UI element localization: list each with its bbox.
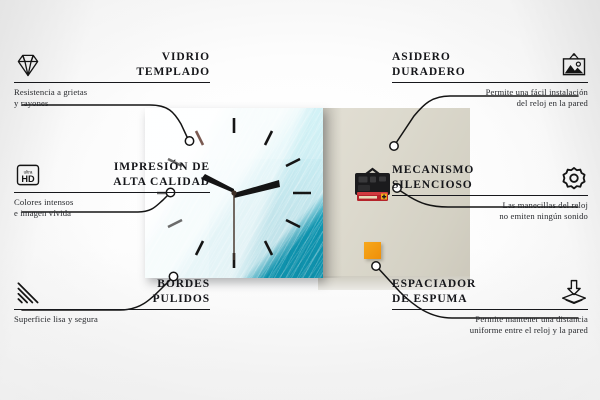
feature-title-line2: DE ESPUMA: [392, 292, 553, 307]
feature-title-line2: SILENCIOSO: [392, 178, 553, 193]
feature-title-line2: PULIDOS: [49, 292, 210, 307]
feature-subtitle-line1: Colores intensos: [14, 197, 210, 208]
feature-title-line2: DURADERO: [392, 65, 553, 80]
polished-edges-icon: [14, 278, 42, 306]
feature-bordes-pulidos[interactable]: BORDES PULIDOS Superficie lisa y segura: [14, 277, 210, 325]
feature-divider: [14, 309, 210, 310]
feature-vidrio-templado[interactable]: VIDRIO TEMPLADO Resistencia a grietas y …: [14, 50, 210, 110]
feature-title-line2: TEMPLADO: [49, 65, 210, 80]
ultra-hd-icon: ultra HD: [14, 161, 42, 189]
feature-title-line2: ALTA CALIDAD: [49, 175, 210, 190]
feature-subtitle-line1: Superficie lisa y segura: [14, 314, 210, 325]
feature-divider: [392, 195, 588, 196]
feature-title-line1: VIDRIO: [49, 50, 210, 65]
feature-subtitle-line2: del reloj en la pared: [392, 98, 588, 109]
feature-espaciador-de-espuma[interactable]: ESPACIADOR DE ESPUMA Permite mantener un…: [392, 277, 588, 337]
feature-title-line1: BORDES: [49, 277, 210, 292]
gear-icon: [560, 164, 588, 192]
feature-impresion-alta-calidad[interactable]: ultra HD IMPRESIÓN DE ALTA CALIDAD Color…: [14, 160, 210, 220]
hotspot-dot-asidero: [390, 142, 398, 150]
feature-divider: [14, 192, 210, 193]
feature-divider: [14, 82, 210, 83]
ultra-hd-icon-bottom: HD: [21, 174, 35, 184]
feature-asidero-duradero[interactable]: ASIDERO DURADERO Permite una fácil insta…: [392, 50, 588, 110]
hanging-frame-icon: [560, 51, 588, 79]
feature-title-line1: IMPRESIÓN DE: [49, 160, 210, 175]
infographic-canvas: VIDRIO TEMPLADO Resistencia a grietas y …: [0, 0, 600, 400]
feature-subtitle-line1: Las manecillas del reloj: [392, 200, 588, 211]
feature-subtitle-line1: Permite una fácil instalación: [392, 87, 588, 98]
feature-title-line1: ASIDERO: [392, 50, 553, 65]
feature-title-line1: ESPACIADOR: [392, 277, 553, 292]
diamond-icon: [14, 51, 42, 79]
hotspot-dot-vidrio: [185, 137, 193, 145]
feature-subtitle-line2: uniforme entre el reloj y la pared: [392, 325, 588, 336]
feature-subtitle-line2: e imagen vívida: [14, 208, 210, 219]
feature-divider: [392, 82, 588, 83]
hotspot-dot-espaciador: [372, 262, 380, 270]
feature-subtitle-line1: Resistencia a grietas: [14, 87, 210, 98]
feature-subtitle-line2: no emiten ningún sonido: [392, 211, 588, 222]
feature-divider: [392, 309, 588, 310]
feature-subtitle-line1: Permite mantener una distancia: [392, 314, 588, 325]
feature-mecanismo-silencioso[interactable]: MECANISMO SILENCIOSO Las manecillas del …: [392, 163, 588, 223]
feature-title-line1: MECANISMO: [392, 163, 553, 178]
feature-subtitle-line2: y rayones: [14, 98, 210, 109]
arrow-on-layers-icon: [560, 278, 588, 306]
